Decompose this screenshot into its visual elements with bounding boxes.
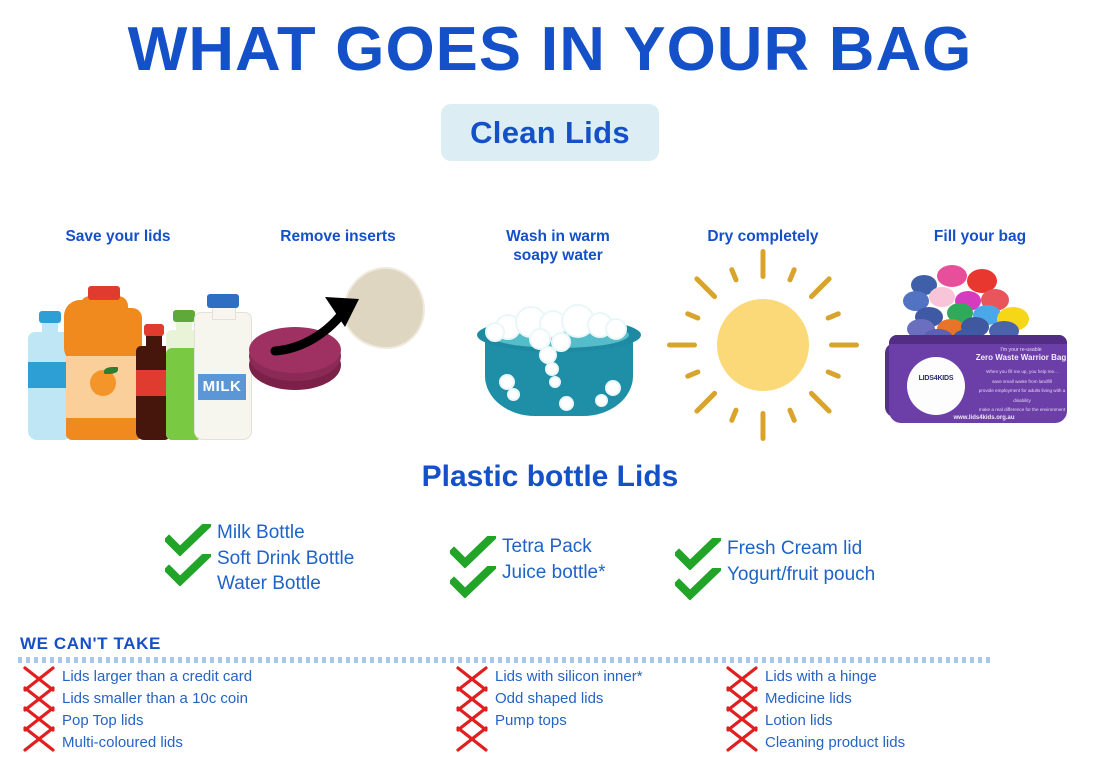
- step-1-caption: Save your lids: [18, 228, 218, 247]
- step-3-art: [458, 288, 658, 468]
- step-3-caption-line2: soapy water: [458, 247, 658, 266]
- rejected-item: Medicine lids: [765, 688, 905, 710]
- lids4kids-logo: [907, 357, 965, 415]
- rejected-items-2: Lids with silicon inner* Odd shaped lids…: [495, 666, 643, 732]
- rejected-item: Lotion lids: [765, 710, 905, 732]
- bag-url-text: www.lids4kids.org.au: [919, 415, 1049, 421]
- accepted-items-2: Tetra Pack Juice bottle*: [502, 534, 606, 585]
- steps-row: Save your lids MILK Remove inserts: [0, 228, 1100, 458]
- cap-and-insert-icon: [243, 257, 433, 417]
- rejected-column-3: Lids with a hinge Medicine lids Lotion l…: [725, 666, 905, 754]
- accepted-ticks-1: [165, 520, 217, 597]
- rejected-crosses-2: [455, 666, 495, 732]
- rejected-column-1: Lids larger than a credit card Lids smal…: [22, 666, 252, 754]
- accepted-ticks-2: [450, 534, 502, 585]
- check-icon: [165, 554, 211, 586]
- bag-bullets-text: When you fill me up, you help me... save…: [975, 367, 1069, 415]
- step-wash-in-warm-soapy-water: Wash in warm soapy water: [458, 228, 658, 468]
- bag-bullet-1: save small waste from landfill: [975, 377, 1069, 387]
- step-dry-completely: Dry completely: [663, 228, 863, 437]
- step-5-art: LIDS4KIDS I'm your re-usable Zero Waste …: [880, 257, 1080, 437]
- step-2-art: [238, 257, 438, 437]
- accepted-item: Fresh Cream lid: [727, 536, 875, 562]
- rejected-crosses-1: [22, 666, 62, 754]
- sun-icon: [675, 257, 851, 433]
- page-title: WHAT GOES IN YOUR BAG: [0, 14, 1100, 85]
- rejected-item: Lids smaller than a 10c coin: [62, 688, 252, 710]
- step-save-your-lids: Save your lids MILK: [18, 228, 218, 445]
- lids-bag-icon: LIDS4KIDS I'm your re-usable Zero Waste …: [885, 257, 1075, 437]
- accepted-item: Juice bottle*: [502, 560, 606, 586]
- accepted-items-3: Fresh Cream lid Yogurt/fruit pouch: [727, 536, 875, 587]
- accepted-column-2: Tetra Pack Juice bottle*: [450, 534, 606, 585]
- accepted-item: Milk Bottle: [217, 520, 354, 546]
- clean-lids-badge-label: Clean Lids: [470, 115, 630, 151]
- check-icon: [165, 524, 211, 556]
- step-4-caption: Dry completely: [663, 228, 863, 247]
- step-5-caption: Fill your bag: [880, 228, 1080, 247]
- accepted-item: Yogurt/fruit pouch: [727, 562, 875, 588]
- rejected-item: Odd shaped lids: [495, 688, 643, 710]
- accepted-items-1: Milk Bottle Soft Drink Bottle Water Bott…: [217, 520, 354, 597]
- rejected-items-1: Lids larger than a credit card Lids smal…: [62, 666, 252, 754]
- rejected-item: Lids larger than a credit card: [62, 666, 252, 688]
- check-icon: [675, 568, 721, 600]
- rejected-items-3: Lids with a hinge Medicine lids Lotion l…: [765, 666, 905, 754]
- rejected-column-2: Lids with silicon inner* Odd shaped lids…: [455, 666, 643, 732]
- step-3-caption-line1: Wash in warm: [458, 228, 658, 247]
- rejected-section-title: WE CAN'T TAKE: [20, 634, 161, 654]
- step-4-art: [663, 257, 863, 437]
- cross-icon: [725, 726, 759, 752]
- bag-bullet-3: make a real difference for the environme…: [975, 405, 1069, 415]
- rejected-crosses-3: [725, 666, 765, 754]
- accepted-item: Soft Drink Bottle: [217, 546, 354, 572]
- step-fill-your-bag: Fill your bag: [880, 228, 1080, 437]
- rejected-item: Cleaning product lids: [765, 732, 905, 754]
- bottles-icon: MILK: [18, 265, 218, 440]
- check-icon: [450, 536, 496, 568]
- rejected-item: Lids with a hinge: [765, 666, 905, 688]
- accepted-section-title: Plastic bottle Lids: [0, 460, 1100, 494]
- cross-icon: [22, 726, 56, 752]
- step-remove-inserts: Remove inserts: [238, 228, 438, 437]
- rejected-list: Lids larger than a credit card Lids smal…: [0, 666, 1100, 766]
- rejected-item: Multi-coloured lids: [62, 732, 252, 754]
- bag-bullets-intro: When you fill me up, you help me...: [975, 367, 1069, 377]
- accepted-column-1: Milk Bottle Soft Drink Bottle Water Bott…: [165, 520, 354, 597]
- step-1-art: MILK: [18, 265, 218, 445]
- infographic-page: WHAT GOES IN YOUR BAG Clean Lids Save yo…: [0, 0, 1100, 778]
- dotted-divider: [18, 657, 990, 663]
- lids4kids-logo-text: LIDS4KIDS: [907, 375, 965, 382]
- bag-title-text: Zero Waste Warrior Bag: [973, 353, 1069, 362]
- rejected-item: Lids with silicon inner*: [495, 666, 643, 688]
- accepted-item: Tetra Pack: [502, 534, 606, 560]
- accepted-list: Milk Bottle Soft Drink Bottle Water Bott…: [0, 520, 1100, 610]
- check-icon: [450, 566, 496, 598]
- step-2-caption: Remove inserts: [238, 228, 438, 247]
- cross-icon: [455, 726, 489, 752]
- rejected-item: Pop Top lids: [62, 710, 252, 732]
- step-3-caption: Wash in warm soapy water: [458, 228, 658, 266]
- arrow-icon: [267, 291, 377, 361]
- accepted-column-3: Fresh Cream lid Yogurt/fruit pouch: [675, 536, 875, 587]
- accepted-ticks-3: [675, 536, 727, 587]
- accepted-item: Water Bottle: [217, 571, 354, 597]
- clean-lids-badge: Clean Lids: [441, 104, 659, 161]
- rejected-item: Pump tops: [495, 710, 643, 732]
- check-icon: [675, 538, 721, 570]
- soapy-basin-icon: [473, 288, 643, 438]
- bag-bullet-2: provide employment for adults living wit…: [975, 386, 1069, 405]
